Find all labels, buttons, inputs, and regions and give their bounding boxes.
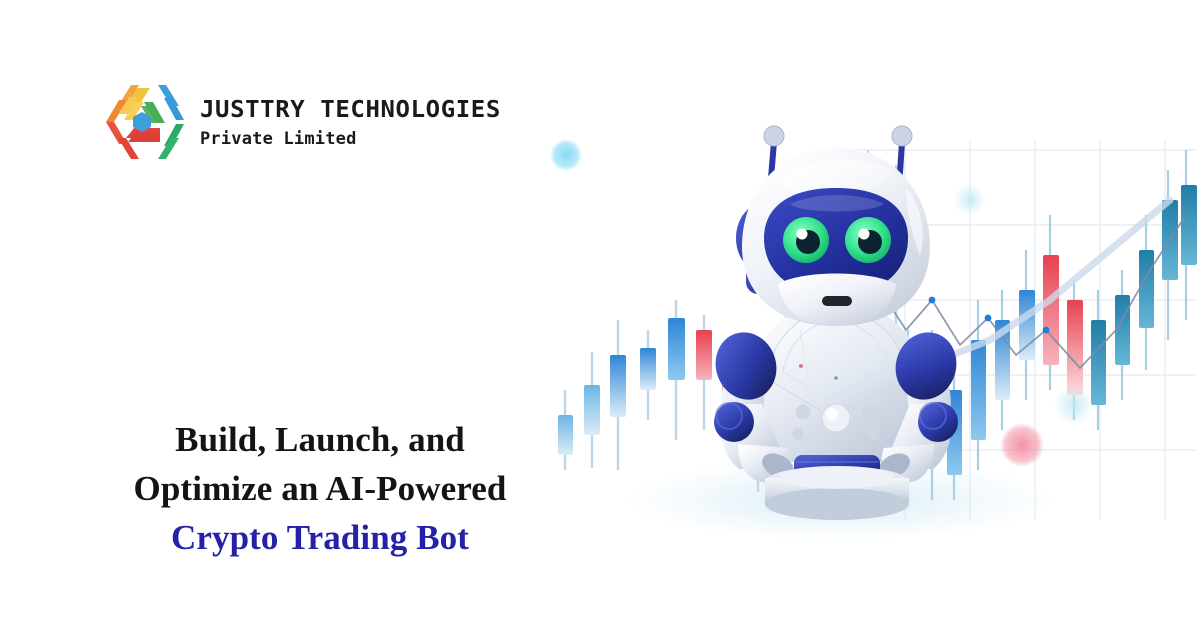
robot-mouth	[822, 296, 852, 306]
cyan-dot-faint	[1054, 385, 1094, 425]
headline-line-2: Optimize an AI-Powered	[60, 464, 580, 513]
brand-subtitle: Private Limited	[200, 130, 495, 149]
brand-name: JUSTTRY TECHNOLOGIES	[200, 97, 501, 123]
brand-text-block: JUSTTRY TECHNOLOGIES Private Limited	[200, 95, 495, 149]
robot-eye-left	[783, 217, 829, 263]
hexagon-chevrons-logo-icon	[98, 84, 186, 160]
ai-trading-robot-illustration	[550, 0, 1200, 630]
banner-root: JUSTTRY TECHNOLOGIES Private Limited Bui…	[0, 0, 1200, 630]
cyan-dot-large	[550, 139, 582, 171]
brand-lockup: JUSTTRY TECHNOLOGIES Private Limited	[98, 84, 495, 160]
headline-line-3-accent: Crypto Trading Bot	[60, 513, 580, 562]
cyan-dot-faint-2	[954, 184, 986, 216]
robot-mascot-icon	[707, 126, 965, 520]
pink-dot	[1000, 423, 1044, 467]
page-title: Build, Launch, and Optimize an AI-Powere…	[60, 415, 580, 562]
headline-line-1: Build, Launch, and	[60, 415, 580, 464]
robot-eye-right	[845, 217, 891, 263]
